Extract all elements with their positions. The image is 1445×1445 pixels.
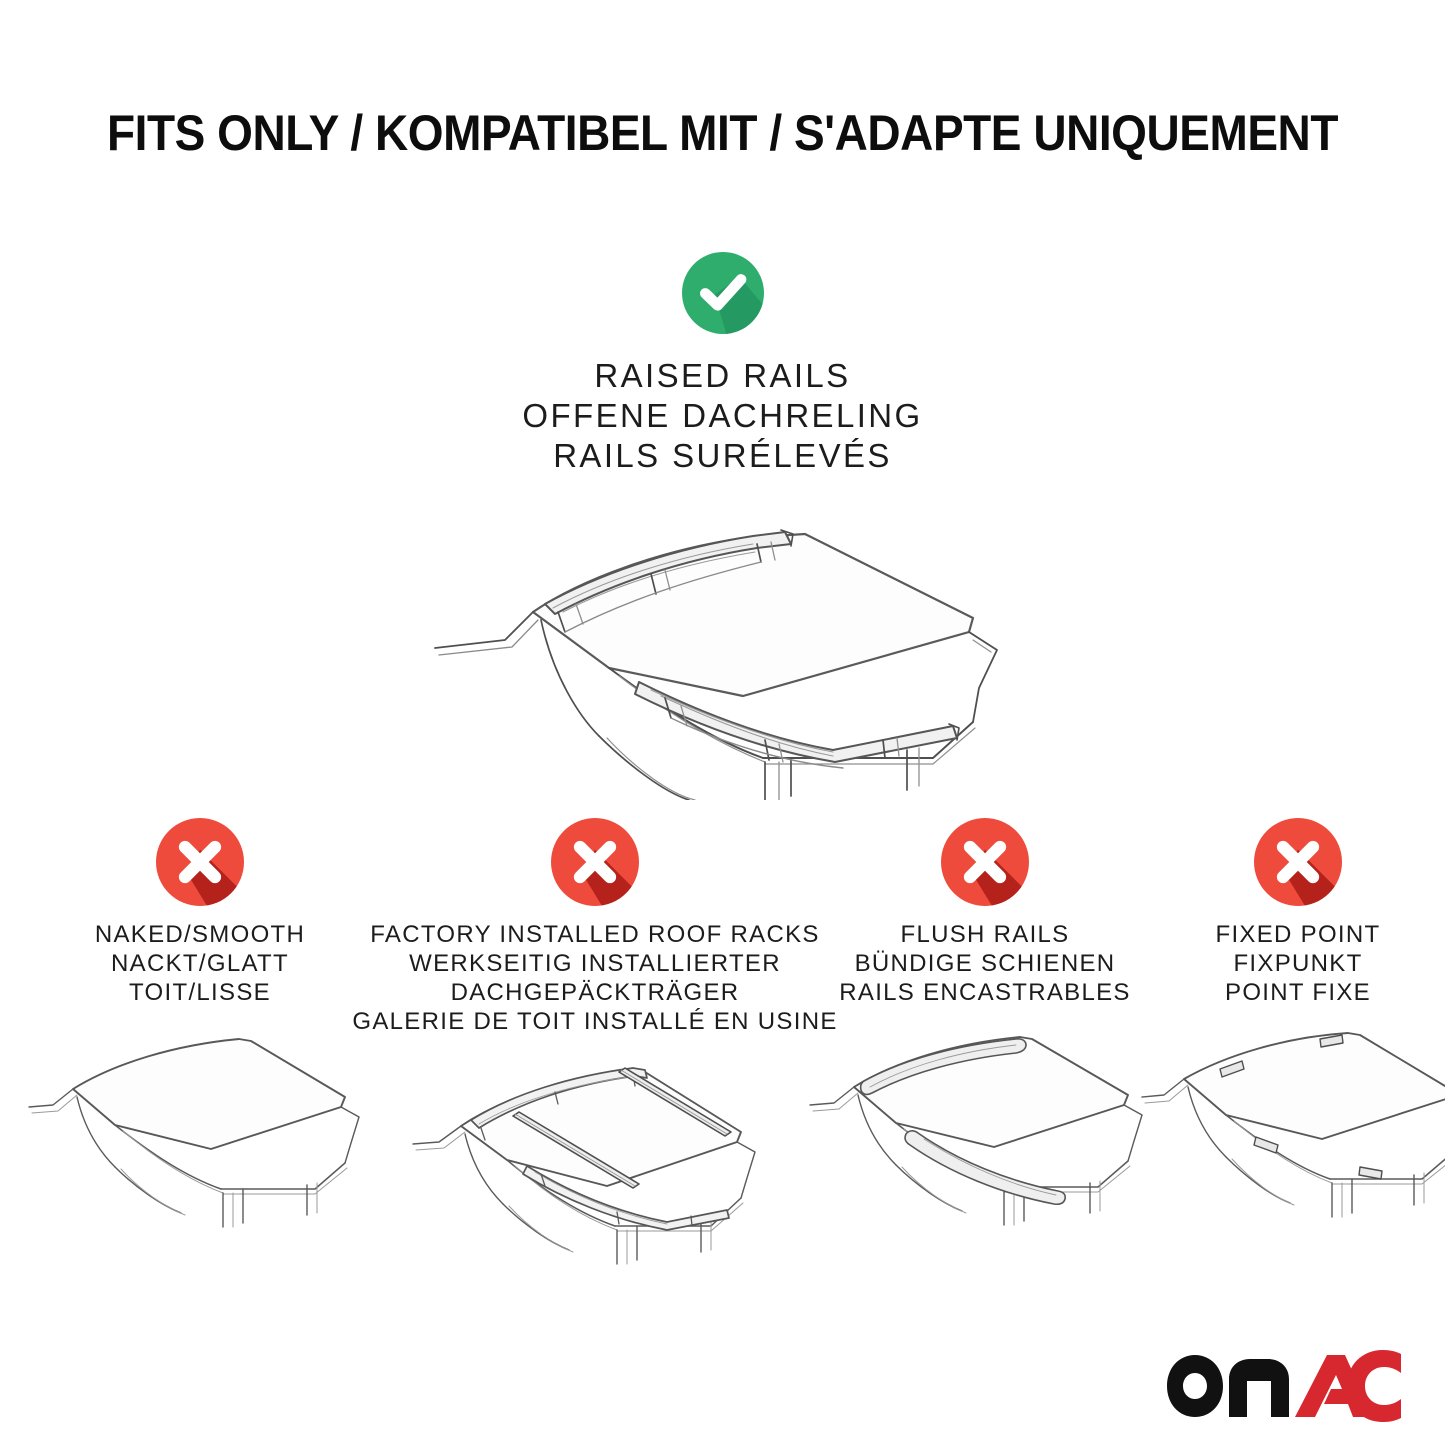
label-de-2: DACHGEPÄCKTRÄGER bbox=[352, 978, 837, 1007]
car-roof-factory-racks-illustration bbox=[395, 1044, 795, 1280]
car-roof-naked-smooth-illustration bbox=[15, 1021, 385, 1251]
illustration-wrap bbox=[395, 1044, 795, 1280]
compatible-labels: RAISED RAILS OFFENE DACHRELING RAILS SUR… bbox=[0, 356, 1445, 476]
car-roof-raised-rails-illustration bbox=[413, 500, 1033, 800]
illustration-wrap bbox=[1138, 1021, 1445, 1251]
incompatible-labels: NAKED/SMOOTH NACKT/GLATT TOIT/LISSE bbox=[95, 920, 305, 1007]
label-de: FIXPUNKT bbox=[1216, 949, 1381, 978]
label-de: BÜNDIGE SCHIENEN bbox=[839, 949, 1131, 978]
incompatible-item-flush-rails: FLUSH RAILS BÜNDIGE SCHIENEN RAILS ENCAS… bbox=[820, 818, 1150, 1251]
car-roof-flush-rails-illustration bbox=[800, 1021, 1170, 1251]
page-title: FITS ONLY / KOMPATIBEL MIT / S'ADAPTE UN… bbox=[58, 104, 1387, 162]
incompatible-labels: FIXED POINT FIXPUNKT POINT FIXE bbox=[1216, 920, 1381, 1007]
hero-illustration-wrap bbox=[0, 500, 1445, 800]
label-en: NAKED/SMOOTH bbox=[95, 920, 305, 949]
omac-logo-icon bbox=[1159, 1349, 1409, 1423]
compatible-label-de: OFFENE DACHRELING bbox=[0, 396, 1445, 436]
brand-logo bbox=[1159, 1349, 1409, 1423]
illustration-wrap bbox=[15, 1021, 385, 1251]
incompatible-item-fixed-point: FIXED POINT FIXPUNKT POINT FIXE bbox=[1158, 818, 1438, 1251]
label-en: FLUSH RAILS bbox=[839, 920, 1131, 949]
label-de-1: WERKSEITIG INSTALLIERTER bbox=[352, 949, 837, 978]
x-circle-icon bbox=[1254, 818, 1342, 906]
x-circle-icon bbox=[156, 818, 244, 906]
x-circle-icon bbox=[551, 818, 639, 906]
label-en: FIXED POINT bbox=[1216, 920, 1381, 949]
illustration-wrap bbox=[800, 1021, 1170, 1251]
x-circle-icon bbox=[941, 818, 1029, 906]
car-roof-fixed-point-illustration bbox=[1138, 1021, 1445, 1251]
label-fr: POINT FIXE bbox=[1216, 978, 1381, 1007]
label-en: FACTORY INSTALLED ROOF RACKS bbox=[352, 920, 837, 949]
incompatible-item-naked-smooth: NAKED/SMOOTH NACKT/GLATT TOIT/LISSE bbox=[10, 818, 390, 1251]
label-fr: GALERIE DE TOIT INSTALLÉ EN USINE bbox=[352, 1007, 837, 1036]
compatible-label-en: RAISED RAILS bbox=[0, 356, 1445, 396]
compatible-label-fr: RAILS SURÉLEVÉS bbox=[0, 436, 1445, 476]
compatible-section: RAISED RAILS OFFENE DACHRELING RAILS SUR… bbox=[0, 252, 1445, 476]
label-fr: RAILS ENCASTRABLES bbox=[839, 978, 1131, 1007]
label-de: NACKT/GLATT bbox=[95, 949, 305, 978]
incompatible-section: NAKED/SMOOTH NACKT/GLATT TOIT/LISSE bbox=[0, 818, 1445, 1280]
label-fr: TOIT/LISSE bbox=[95, 978, 305, 1007]
incompatible-item-factory-racks: FACTORY INSTALLED ROOF RACKS WERKSEITIG … bbox=[380, 818, 810, 1280]
incompatible-labels: FACTORY INSTALLED ROOF RACKS WERKSEITIG … bbox=[352, 920, 837, 1036]
check-circle-icon bbox=[682, 252, 764, 334]
incompatible-labels: FLUSH RAILS BÜNDIGE SCHIENEN RAILS ENCAS… bbox=[839, 920, 1131, 1007]
